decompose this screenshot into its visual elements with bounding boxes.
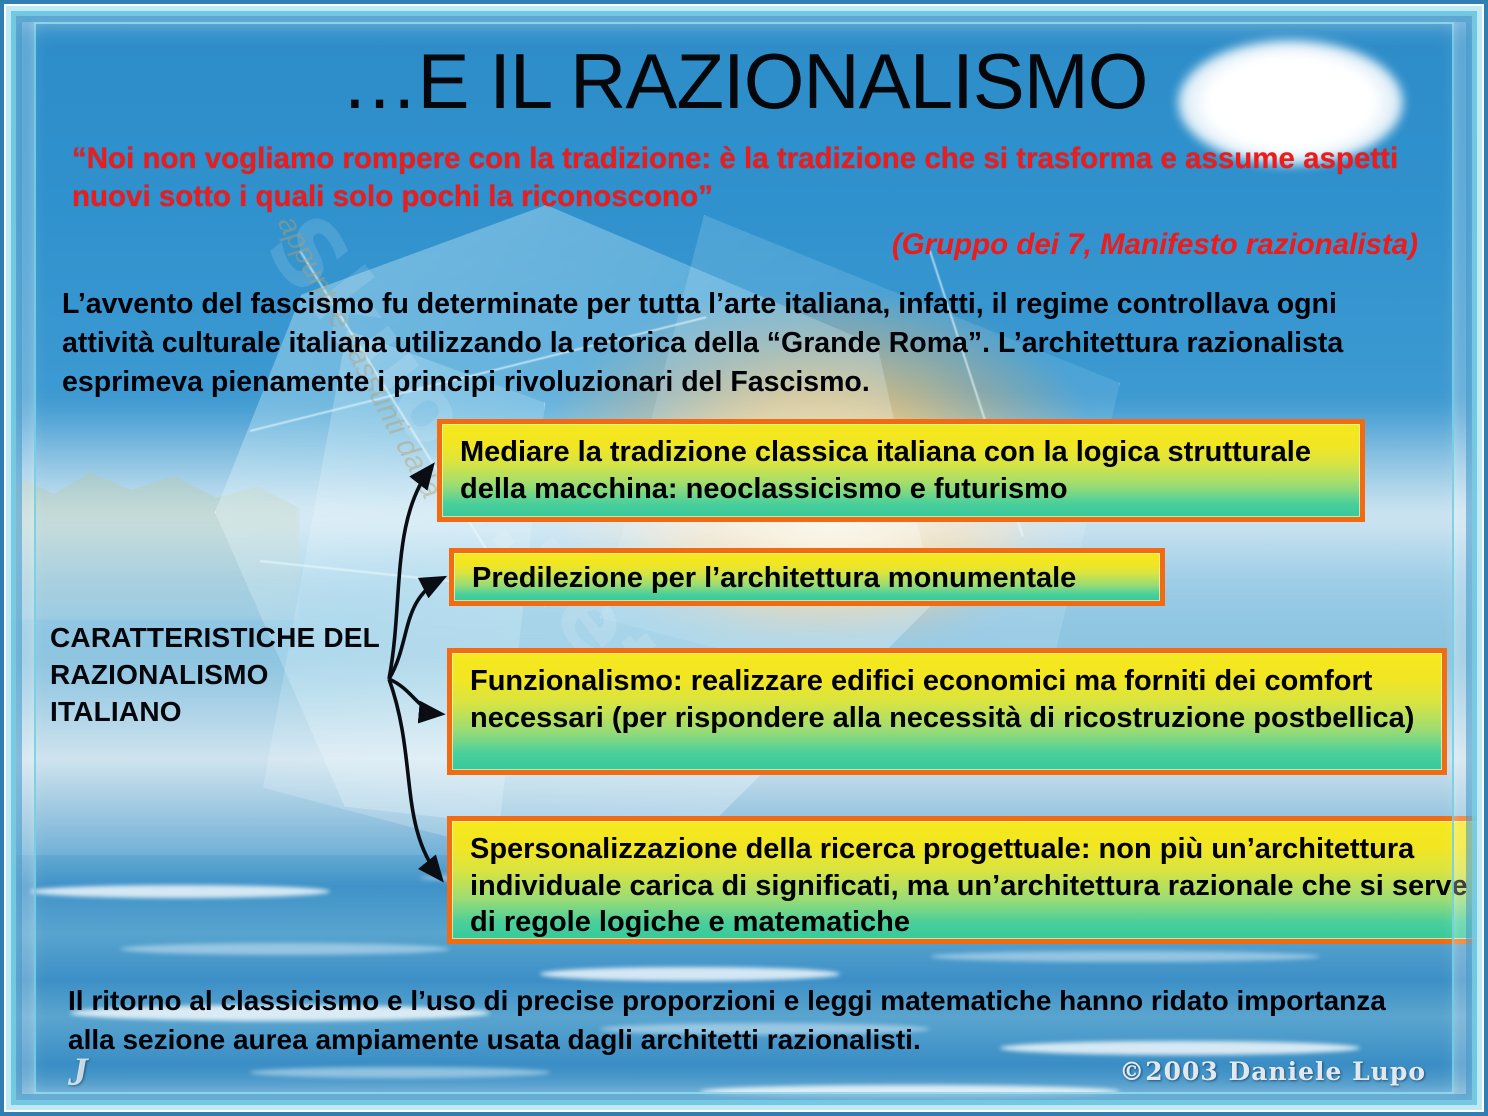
callout-box-predilezione: Predilezione per l’architettura monument…	[449, 548, 1165, 606]
quote-text: “Noi non vogliamo rompere con la tradizi…	[72, 140, 1412, 217]
side-label-caratteristiche: CARATTERISTICHE DEL RAZIONALISMO ITALIAN…	[50, 620, 390, 731]
intro-paragraph: L’avvento del fascismo fu determinate pe…	[62, 285, 1434, 401]
callout-box-spersonalizzazione: Spersonalizzazione della ricerca progett…	[447, 816, 1488, 944]
author-logo: J	[68, 1052, 110, 1098]
presentation-slide: Skuola.net appunti e riassunti dalla …E …	[0, 0, 1488, 1116]
callout-box-mediare: Mediare la tradizione classica italiana …	[437, 419, 1365, 522]
closing-paragraph: Il ritorno al classicismo e l’uso di pre…	[68, 982, 1428, 1059]
quote-attribution: (Gruppo dei 7, Manifesto razionalista)	[72, 228, 1418, 262]
copyright-notice: ©2003 Daniele Lupo	[1119, 1057, 1426, 1086]
callout-box-funzionalismo: Funzionalismo: realizzare edifici econom…	[447, 648, 1447, 775]
logo-glyph: J	[68, 1049, 88, 1094]
slide-title: …E IL RAZIONALISMO	[0, 42, 1488, 120]
